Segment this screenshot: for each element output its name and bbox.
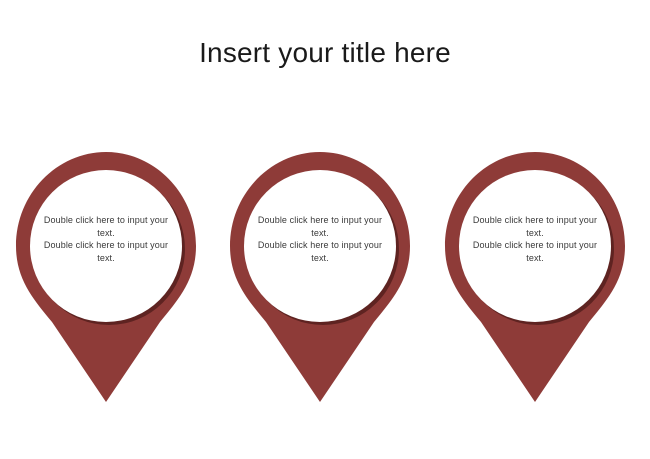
map-pin-icon xyxy=(226,150,414,404)
pin-3-text[interactable]: Double click here to input your text. Do… xyxy=(467,214,603,264)
map-pin-3[interactable]: Double click here to input your text. Do… xyxy=(441,150,629,404)
page-title[interactable]: Insert your title here xyxy=(0,36,650,70)
map-pin-1[interactable]: Double click here to input your text. Do… xyxy=(12,150,200,404)
slide-canvas: Insert your title here Double click here… xyxy=(0,0,650,459)
map-pin-icon xyxy=(441,150,629,404)
map-pin-icon xyxy=(12,150,200,404)
pin-1-text[interactable]: Double click here to input your text. Do… xyxy=(38,214,174,264)
map-pin-2[interactable]: Double click here to input your text. Do… xyxy=(226,150,414,404)
pin-2-text[interactable]: Double click here to input your text. Do… xyxy=(252,214,388,264)
